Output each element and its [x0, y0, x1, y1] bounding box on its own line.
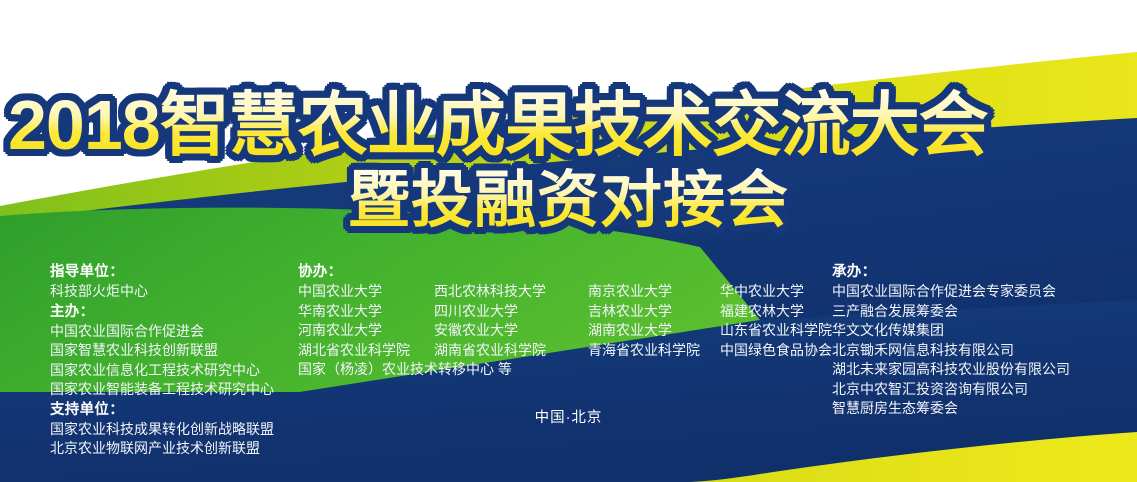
co-organizer-item: 青海省农业科学院 [588, 341, 720, 361]
credits-column-middle: 协办： 中国农业大学 西北农林科技大学 南京农业大学 华中农业大学 华南农业大学… [298, 262, 818, 380]
co-organizer-item: 湖北省农业科学院 [298, 341, 434, 361]
host-item: 中国农业国际合作促进会 [50, 322, 300, 342]
credits-column-right: 承办： 中国农业国际合作促进会专家委员会 三产融合发展筹委会 华文文化传媒集团 … [832, 262, 1132, 419]
co-organizer-item: 四川农业大学 [434, 302, 588, 322]
co-organizer-grid: 中国农业大学 西北农林科技大学 南京农业大学 华中农业大学 华南农业大学 四川农… [298, 282, 818, 360]
co-organizer-item: 南京农业大学 [588, 282, 720, 302]
co-organizer-item: 福建农林大学 [720, 302, 724, 322]
organizer-item: 华文文化传媒集团 [832, 321, 1132, 341]
host-item: 国家智慧农业科技创新联盟 [50, 341, 300, 361]
co-organizer-item: 吉林农业大学 [588, 302, 720, 322]
co-organizer-item: 河南农业大学 [298, 321, 434, 341]
co-organizer-item: 湖南农业大学 [588, 321, 720, 341]
organizer-item: 北京锄禾网信息科技有限公司 [832, 341, 1132, 361]
host-header: 主办： [50, 302, 300, 322]
organizer-item: 湖北未来家园高科技农业股份有限公司 [832, 360, 1132, 380]
conference-banner: 2018智慧农业成果技术交流大会 暨投融资对接会 指导单位： 科技部火炬中心 主… [0, 0, 1137, 482]
organizer-item: 中国农业国际合作促进会专家委员会 [832, 282, 1132, 302]
credits-column-left: 指导单位： 科技部火炬中心 主办： 中国农业国际合作促进会 国家智慧农业科技创新… [50, 262, 300, 459]
guide-item: 科技部火炬中心 [50, 282, 300, 302]
support-item: 北京农业物联网产业技术创新联盟 [50, 439, 300, 459]
organizer-header: 承办： [832, 262, 1132, 282]
host-item: 国家农业智能装备工程技术研究中心 [50, 380, 300, 400]
co-organizer-item: 西北农林科技大学 [434, 282, 588, 302]
guide-header: 指导单位： [50, 262, 300, 282]
credits-block: 指导单位： 科技部火炬中心 主办： 中国农业国际合作促进会 国家智慧农业科技创新… [0, 262, 1137, 462]
organizer-item: 三产融合发展筹委会 [832, 302, 1132, 322]
co-organizer-header: 协办： [298, 262, 818, 282]
co-organizer-item: 华南农业大学 [298, 302, 434, 322]
co-organizer-item: 湖南省农业科学院 [434, 341, 588, 361]
location-text: 中国·北京 [0, 406, 1137, 427]
co-organizer-item: 安徽农业大学 [434, 321, 588, 341]
co-organizer-last-line: 国家（杨凌）农业技术转移中心 等 [298, 360, 818, 380]
co-organizer-item: 山东省农业科学院 [720, 321, 724, 341]
organizer-item: 北京中农智汇投资咨询有限公司 [832, 380, 1132, 400]
host-item: 国家农业信息化工程技术研究中心 [50, 361, 300, 381]
co-organizer-item: 中国农业大学 [298, 282, 434, 302]
co-organizer-item: 华中农业大学 [720, 282, 724, 302]
co-organizer-item: 中国绿色食品协会 [720, 341, 724, 361]
